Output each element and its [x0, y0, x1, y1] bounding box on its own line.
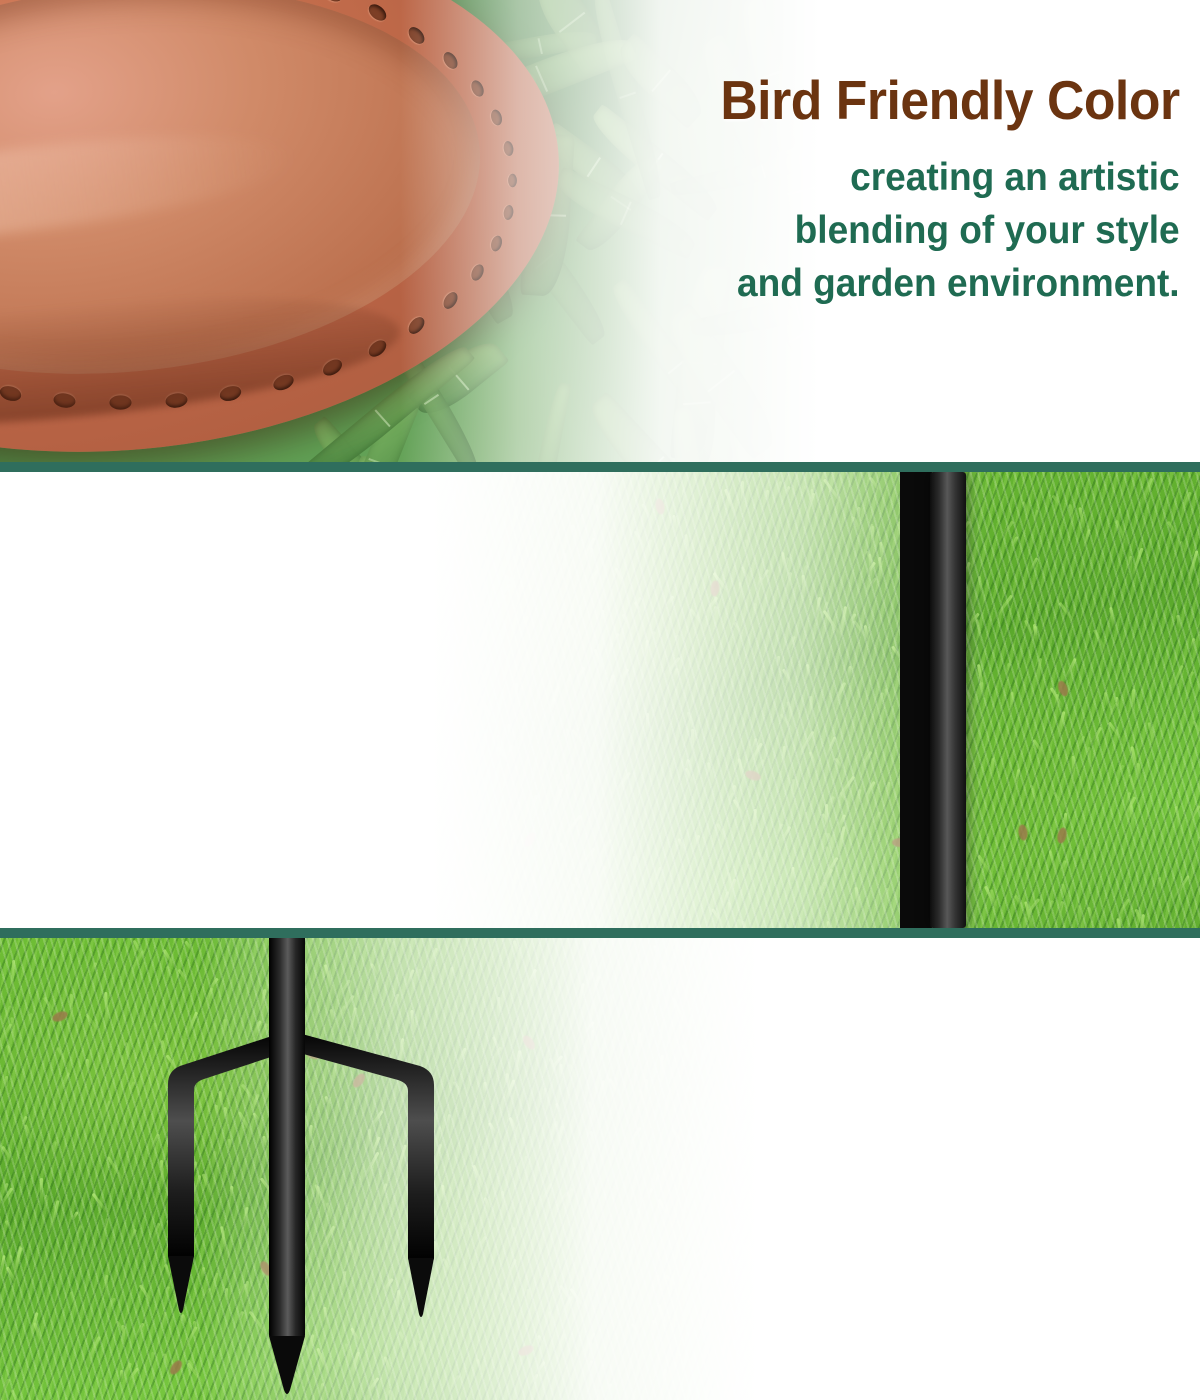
center-shaft	[269, 938, 305, 1338]
panel-1-text: Bird Friendly Color creating an artistic…	[691, 72, 1180, 310]
product-infographic: Bird Friendly Color creating an artistic…	[0, 0, 1200, 1400]
prong-right	[296, 1034, 434, 1262]
stake-shadow-gap	[900, 472, 932, 928]
prong-right-tip	[408, 1258, 434, 1317]
three-prong-stake	[120, 938, 540, 1400]
panel-1-body-line-1: creating an artistic	[716, 151, 1180, 204]
prong-left-tip	[168, 1256, 194, 1313]
panel-bird-friendly-color: Bird Friendly Color creating an artistic…	[0, 0, 1200, 462]
steel-stake-pole	[930, 472, 966, 928]
panel-1-heading: Bird Friendly Color	[721, 72, 1180, 128]
steel-stake-grass-photo	[430, 472, 1200, 928]
panel-high-quality: High Quality heavy duty steel stake make…	[0, 472, 1200, 928]
panel-divider-2	[0, 928, 1200, 938]
panel-1-body-line-2: blending of your style	[716, 204, 1180, 257]
prong-left	[168, 1036, 280, 1260]
panel-three-solid-prongs: 3 Solid Prongs make this bird bath stay …	[0, 938, 1200, 1400]
panel-1-body: creating an artistic blending of your st…	[716, 151, 1180, 310]
prong-stake-grass-photo	[0, 938, 760, 1400]
panel-1-body-line-3: and garden environment.	[716, 257, 1180, 310]
panel-divider-1	[0, 462, 1200, 472]
center-shaft-tip	[269, 1336, 305, 1394]
